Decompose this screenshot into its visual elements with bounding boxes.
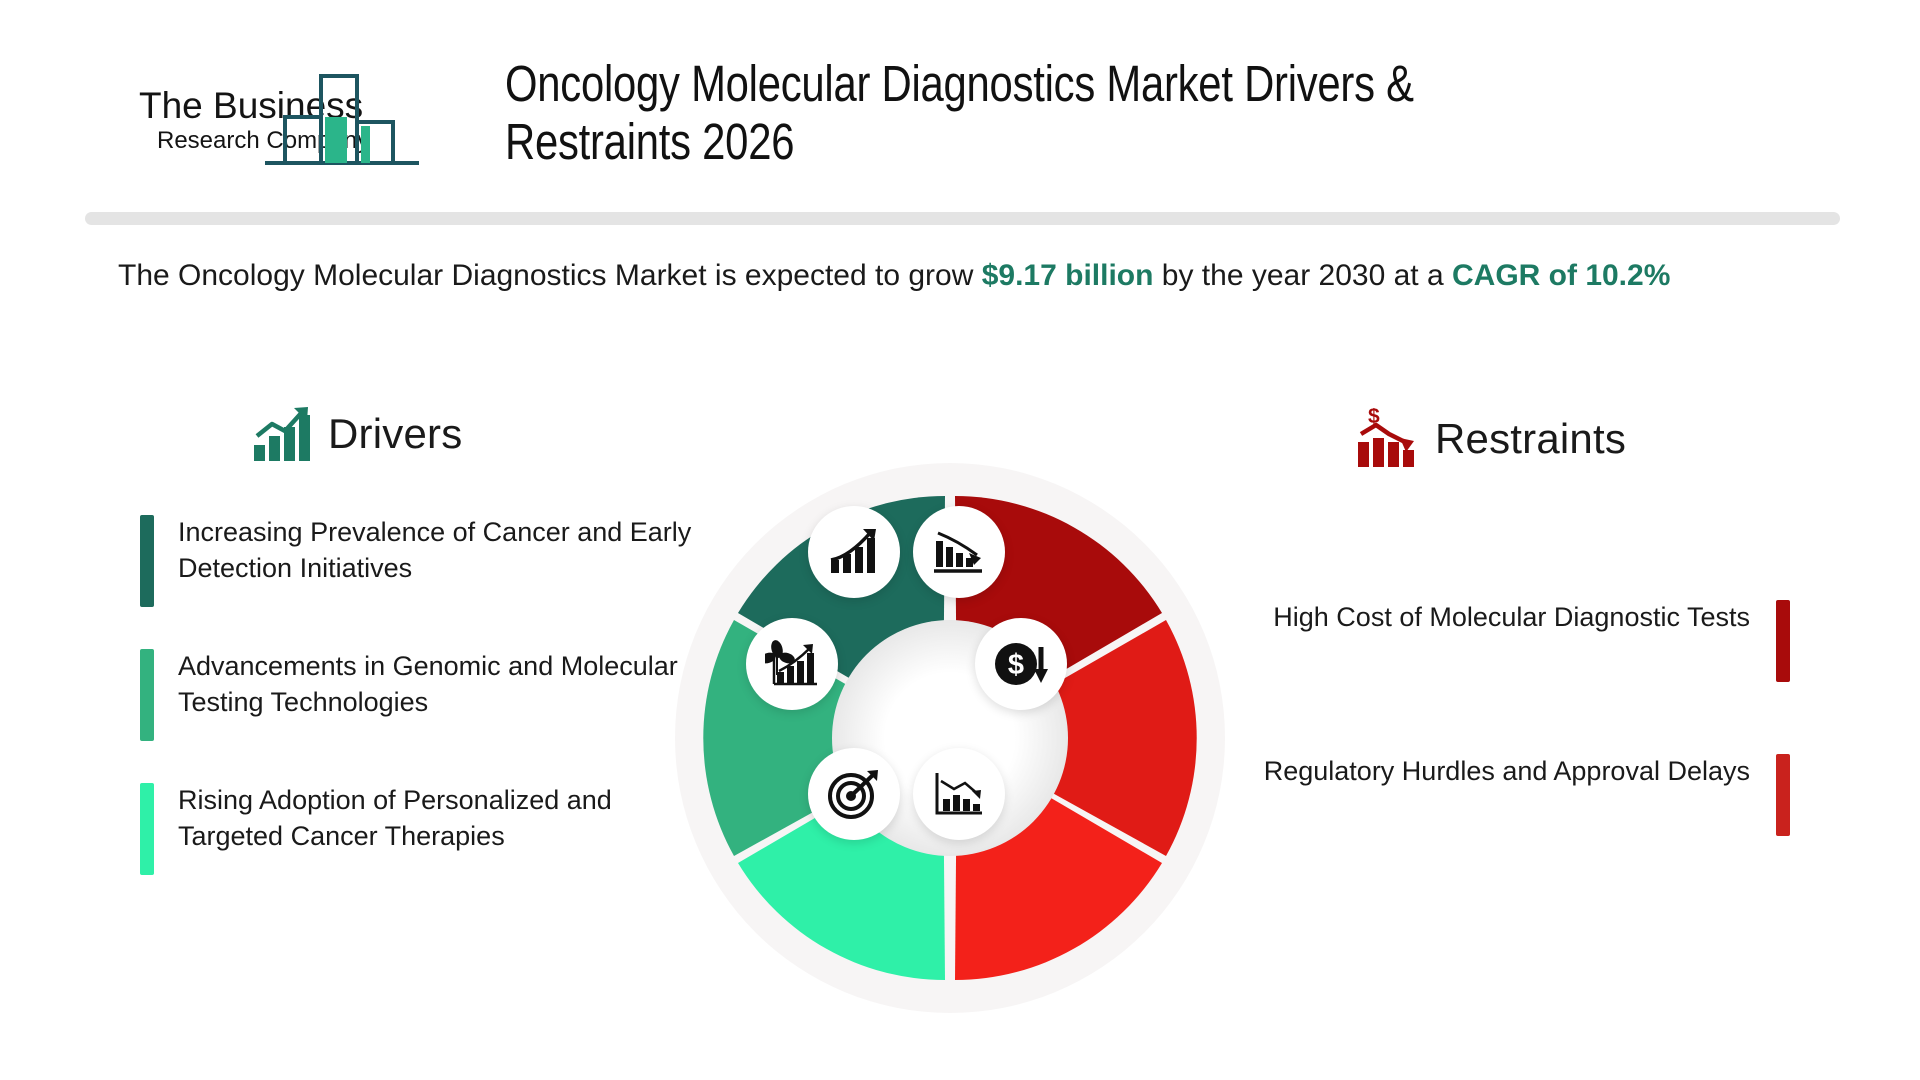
summary-part1: The Oncology Molecular Diagnostics Marke…	[118, 259, 982, 292]
driver-text: Rising Adoption of Personalized and Targ…	[178, 783, 700, 875]
restraint-text: Regulatory Hurdles and Approval Delays	[1264, 754, 1750, 836]
bar-chart-up-icon	[252, 405, 314, 463]
driver-text: Increasing Prevalence of Cancer and Earl…	[178, 515, 700, 607]
list-item: High Cost of Molecular Diagnostic Tests	[1230, 600, 1790, 682]
driver-accent-bar	[140, 515, 154, 607]
wheel-badge-declining-bars[interactable]	[913, 748, 1005, 840]
drivers-section-header: Drivers	[252, 405, 462, 463]
summary-market-value: $9.17 billion	[982, 259, 1154, 292]
bar-chart-down-dollar-icon: $	[1355, 408, 1421, 470]
dollar-down-icon: $	[992, 637, 1050, 691]
market-summary: The Oncology Molecular Diagnostics Marke…	[118, 255, 1808, 298]
page-title-line2: Restraints 2026	[505, 113, 1571, 171]
svg-text:$: $	[1368, 408, 1380, 428]
page-title: Oncology Molecular Diagnostics Market Dr…	[505, 55, 1805, 171]
wheel-badge-decline-chart[interactable]	[913, 506, 1005, 598]
summary-part2: by the year 2030 at a	[1153, 259, 1452, 292]
logo-bar-green-tall	[325, 117, 347, 163]
target-dartboard-icon	[827, 768, 881, 820]
logo-graphic: The Business Research Company	[135, 60, 470, 170]
restraints-section-header: $ Restraints	[1355, 408, 1626, 470]
declining-bar-chart-icon	[932, 769, 986, 819]
drivers-restraints-wheel: $	[660, 448, 1240, 1028]
wheel-badge-target[interactable]	[808, 748, 900, 840]
list-item: Rising Adoption of Personalized and Targ…	[140, 783, 700, 875]
wheel-badge-growth-chart[interactable]	[808, 506, 900, 598]
wheel-badge-dollar-down[interactable]: $	[975, 618, 1067, 710]
chart-decline-arrow-icon	[932, 527, 986, 577]
list-item: Advancements in Genomic and Molecular Te…	[140, 649, 700, 741]
logo-bar-green-short	[361, 126, 370, 163]
list-item: Regulatory Hurdles and Approval Delays	[1230, 754, 1790, 836]
list-item: Increasing Prevalence of Cancer and Earl…	[140, 515, 700, 607]
driver-accent-bar	[140, 783, 154, 875]
wheel-badge-plant-growth[interactable]	[746, 618, 838, 710]
restraints-heading: Restraints	[1435, 415, 1626, 463]
summary-cagr: CAGR of 10.2%	[1452, 259, 1670, 292]
svg-text:$: $	[1008, 649, 1024, 681]
restraint-accent-bar	[1776, 754, 1790, 836]
restraint-accent-bar	[1776, 600, 1790, 682]
header-divider	[85, 212, 1840, 225]
plant-growth-chart-icon	[765, 639, 819, 689]
driver-accent-bar	[140, 649, 154, 741]
drivers-list: Increasing Prevalence of Cancer and Earl…	[140, 515, 700, 917]
restraints-list: High Cost of Molecular Diagnostic Tests …	[1230, 600, 1790, 908]
page-title-line1: Oncology Molecular Diagnostics Market Dr…	[505, 55, 1571, 113]
tbrc-logo: The Business Research Company	[135, 60, 470, 170]
driver-text: Advancements in Genomic and Molecular Te…	[178, 649, 700, 741]
chart-growth-arrow-icon	[827, 527, 881, 577]
drivers-heading: Drivers	[328, 410, 462, 458]
page-header: The Business Research Company Oncology M…	[0, 0, 1920, 205]
restraint-text: High Cost of Molecular Diagnostic Tests	[1273, 600, 1750, 682]
